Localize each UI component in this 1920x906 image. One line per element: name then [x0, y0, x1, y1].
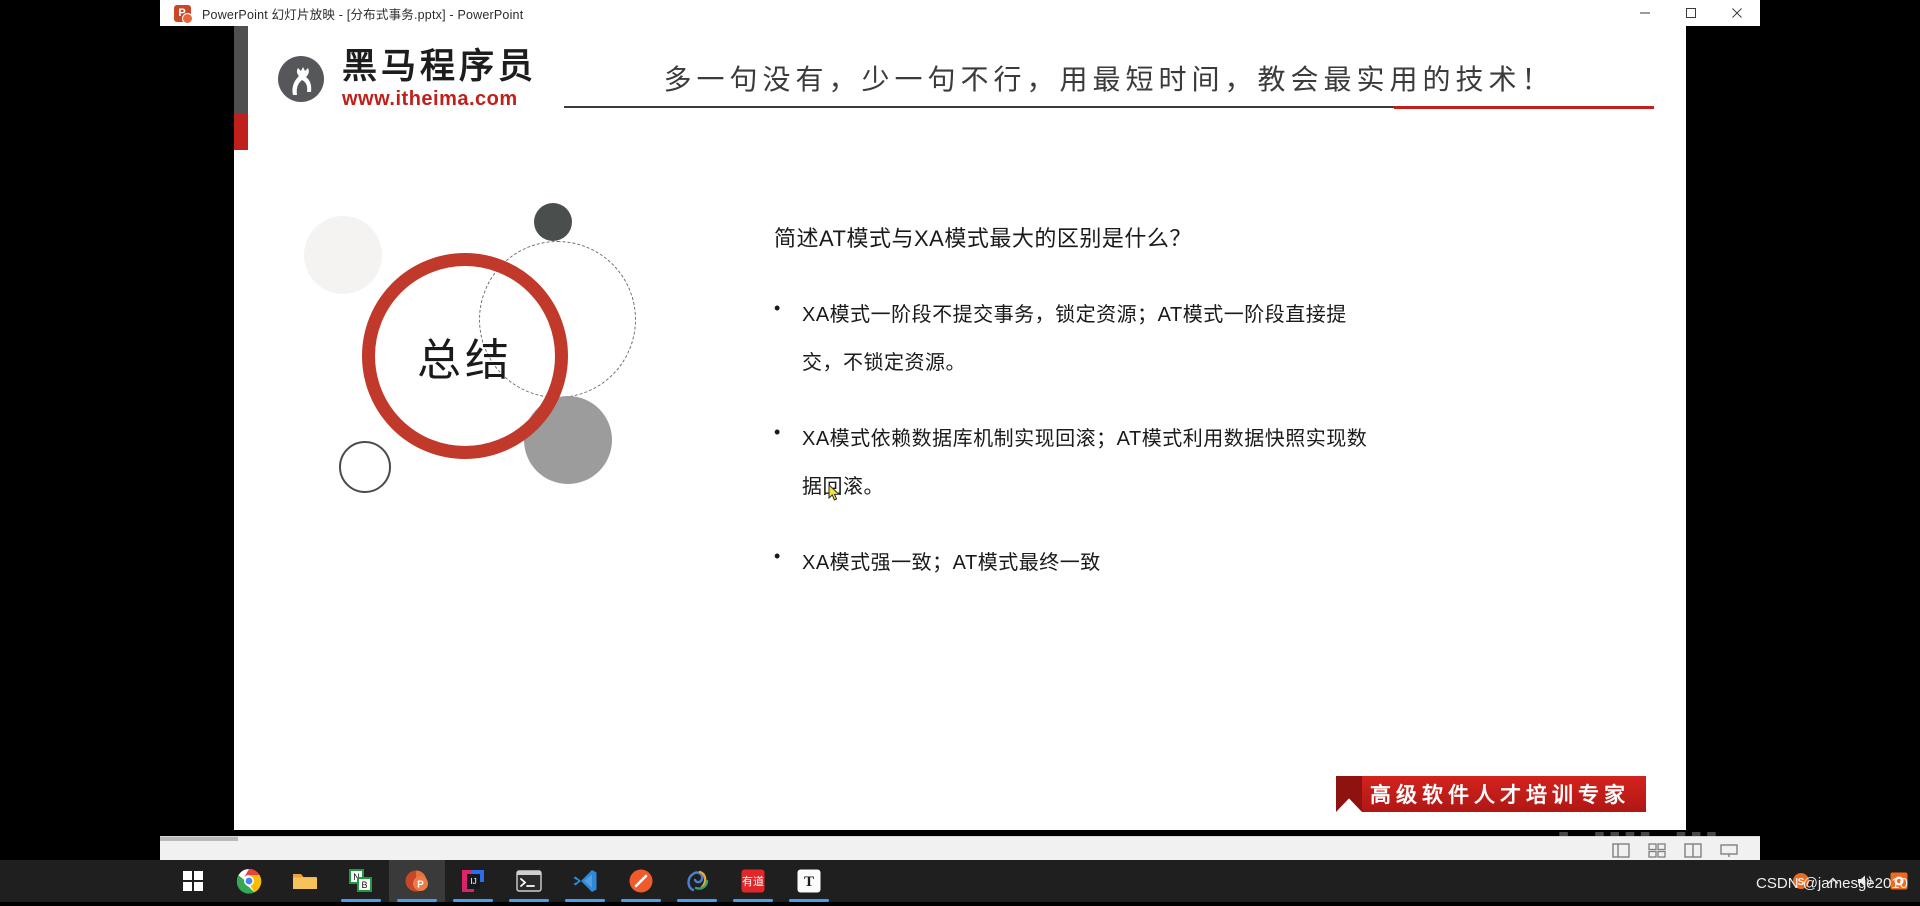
bullet-marker: • — [774, 539, 802, 587]
csdn-watermark: CSDN @jamesge2010 — [1756, 875, 1908, 892]
postman-icon — [628, 868, 654, 894]
vscode-icon — [572, 868, 598, 894]
bullet-text: XA模式强一致；AT模式最终一致 — [802, 539, 1101, 587]
svg-text:B: B — [361, 880, 367, 890]
powerpoint-status-bar — [160, 836, 1760, 863]
slideshow-stage: 黑马程序员 www.itheima.com 多一句没有，少一句不行，用最短时间，… — [160, 26, 1760, 836]
typora-icon — [684, 868, 710, 894]
mouse-cursor — [828, 484, 842, 502]
bullet-marker: • — [774, 415, 802, 511]
taskbar-postman[interactable] — [613, 860, 669, 902]
svg-text:P: P — [417, 880, 424, 891]
windows-icon — [182, 870, 204, 892]
light-circle-decoration — [304, 216, 382, 294]
slide-canvas[interactable]: 黑马程序员 www.itheima.com 多一句没有，少一句不行，用最短时间，… — [234, 26, 1686, 830]
maximize-button[interactable] — [1668, 0, 1714, 26]
folder-icon — [292, 870, 318, 892]
taskbar-youdao[interactable]: 有道 — [725, 860, 781, 902]
taskbar-notes[interactable]: N B — [333, 860, 389, 902]
brand-url: www.itheima.com — [342, 89, 537, 109]
list-item: • XA模式依赖数据库机制实现回滚；AT模式利用数据快照实现数据回滚。 — [774, 415, 1554, 511]
dark-circle-decoration — [534, 203, 572, 241]
header-rule-red — [1394, 106, 1654, 109]
window-title-bar: P PowerPoint 幻灯片放映 - [分布式事务.pptx] - Powe… — [160, 0, 1760, 27]
slide-heading: 简述AT模式与XA模式最大的区别是什么？ — [774, 221, 1554, 253]
header-gray-bar — [234, 26, 248, 114]
svg-text:有道: 有道 — [742, 874, 764, 888]
taskbar-typora-t[interactable]: T — [781, 860, 837, 902]
reading-view-icon[interactable] — [1684, 843, 1702, 858]
close-button[interactable] — [1714, 0, 1760, 26]
windows-taskbar: N B P IJ — [0, 860, 1920, 902]
taskbar-file-explorer[interactable] — [277, 860, 333, 902]
taskbar-chrome[interactable] — [221, 860, 277, 902]
brand-logo: 黑马程序员 www.itheima.com — [270, 48, 537, 110]
chrome-icon — [236, 868, 262, 894]
banner-text: 高级软件人才培训专家 — [1362, 776, 1646, 812]
letter-t-icon: T — [797, 869, 821, 893]
taskbar-typora[interactable] — [669, 860, 725, 902]
summary-ring-label: 总结 — [417, 324, 513, 388]
taskbar-intellij[interactable]: IJ — [445, 860, 501, 902]
footer-banner: 高级软件人才培训专家 — [1336, 776, 1646, 812]
minimize-button[interactable] — [1622, 0, 1668, 26]
slide-sorter-icon[interactable] — [1648, 843, 1666, 858]
slide-slogan: 多一句没有，少一句不行，用最短时间，教会最实用的技术！ — [564, 58, 1654, 98]
summary-graphic: 总结 — [294, 196, 714, 536]
svg-text:IJ: IJ — [470, 876, 477, 886]
bullet-marker: • — [774, 291, 802, 387]
slideshow-icon[interactable] — [1720, 843, 1738, 858]
normal-view-icon[interactable] — [1612, 843, 1630, 858]
slide-body: 简述AT模式与XA模式最大的区别是什么？ • XA模式一阶段不提交事务，锁定资源… — [774, 221, 1554, 615]
taskbar-terminal[interactable] — [501, 860, 557, 902]
brand-name: 黑马程序员 — [342, 47, 537, 86]
youdao-icon: 有道 — [741, 869, 765, 893]
playback-progress[interactable] — [160, 837, 238, 841]
start-button[interactable] — [165, 860, 221, 902]
terminal-icon — [516, 870, 542, 892]
powerpoint-icon: P — [404, 868, 430, 894]
list-item: • XA模式强一致；AT模式最终一致 — [774, 539, 1554, 587]
header-red-bar — [234, 114, 248, 150]
list-item: • XA模式一阶段不提交事务，锁定资源；AT模式一阶段直接提交，不锁定资源。 — [774, 291, 1554, 387]
bullet-text: XA模式一阶段不提交事务，锁定资源；AT模式一阶段直接提交，不锁定资源。 — [802, 291, 1382, 387]
taskbar-vscode[interactable] — [557, 860, 613, 902]
nb-icon: N B — [348, 868, 374, 894]
powerpoint-icon: P — [172, 3, 192, 23]
intellij-icon: IJ — [460, 868, 486, 894]
summary-ring: 总结 — [362, 253, 568, 459]
outline-circle-decoration — [339, 441, 391, 493]
bullet-text: XA模式依赖数据库机制实现回滚；AT模式利用数据快照实现数据回滚。 — [802, 415, 1382, 511]
banner-tail — [1336, 776, 1362, 812]
horse-head-icon — [270, 48, 332, 110]
svg-text:T: T — [804, 874, 814, 890]
window-title: PowerPoint 幻灯片放映 - [分布式事务.pptx] - PowerP… — [202, 4, 523, 23]
taskbar-powerpoint[interactable]: P — [389, 860, 445, 902]
